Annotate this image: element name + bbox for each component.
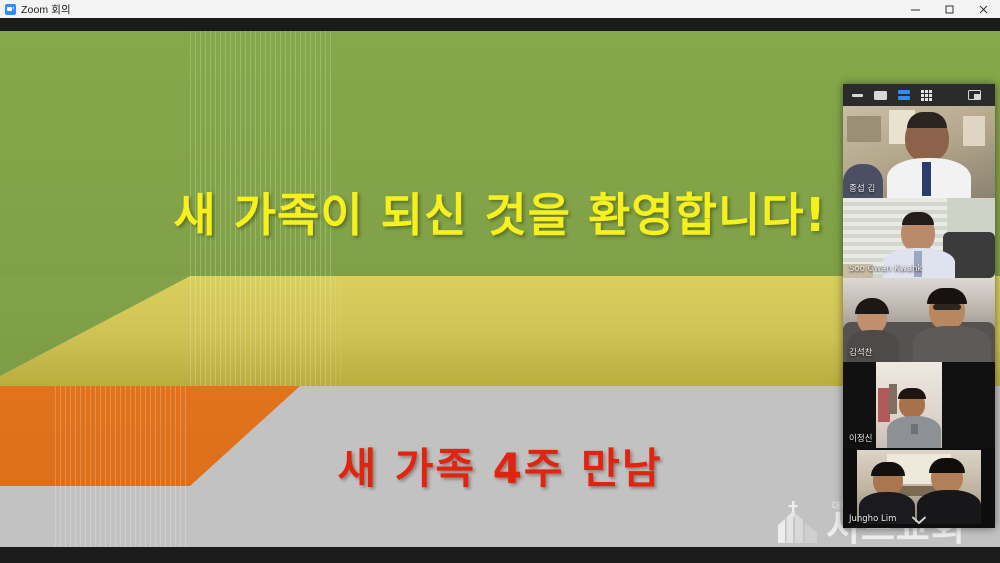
grid-view-icon[interactable] (918, 87, 935, 103)
exit-fullscreen-icon[interactable] (966, 87, 983, 103)
minimize-bar-icon[interactable] (849, 87, 866, 103)
zoom-meeting-window: Zoom 회의 새 가족이 되신 것을 환영합니다! 새 가족 4주 만남 (0, 0, 1000, 563)
video-view-toolbar (843, 84, 995, 106)
church-building-icon (772, 499, 820, 543)
gallery-view-icon[interactable] (895, 87, 912, 103)
video-filmstrip-panel: 종섭 김 Soo Gwan Kwahk (843, 84, 995, 528)
participant-tile[interactable]: Jungho Lim (843, 448, 995, 528)
chevron-down-icon[interactable] (910, 514, 928, 526)
participant-tile[interactable]: Soo Gwan Kwahk (843, 198, 995, 278)
window-title: Zoom 회의 (21, 2, 71, 17)
participant-name: 김석찬 (846, 347, 875, 360)
minimize-icon[interactable] (898, 0, 932, 18)
speaker-view-icon[interactable] (872, 87, 889, 103)
participant-name: 종섭 김 (846, 183, 878, 196)
zoom-camera-icon (5, 4, 16, 15)
participant-name: 이정신 (846, 433, 875, 446)
maximize-icon[interactable] (932, 0, 966, 18)
participant-tiles[interactable]: 종섭 김 Soo Gwan Kwahk (843, 106, 995, 528)
participant-tile[interactable]: 김석찬 (843, 278, 995, 362)
title-bar: Zoom 회의 (0, 0, 1000, 18)
participant-name: Soo Gwan Kwahk (846, 263, 925, 276)
participant-tile[interactable]: 종섭 김 (843, 106, 995, 198)
participant-tile[interactable]: 이정신 (843, 362, 995, 448)
meeting-stage: 새 가족이 되신 것을 환영합니다! 새 가족 4주 만남 대한예수교장로회 서… (0, 18, 1000, 563)
close-icon[interactable] (966, 0, 1000, 18)
participant-name: Jungho Lim (846, 513, 899, 526)
